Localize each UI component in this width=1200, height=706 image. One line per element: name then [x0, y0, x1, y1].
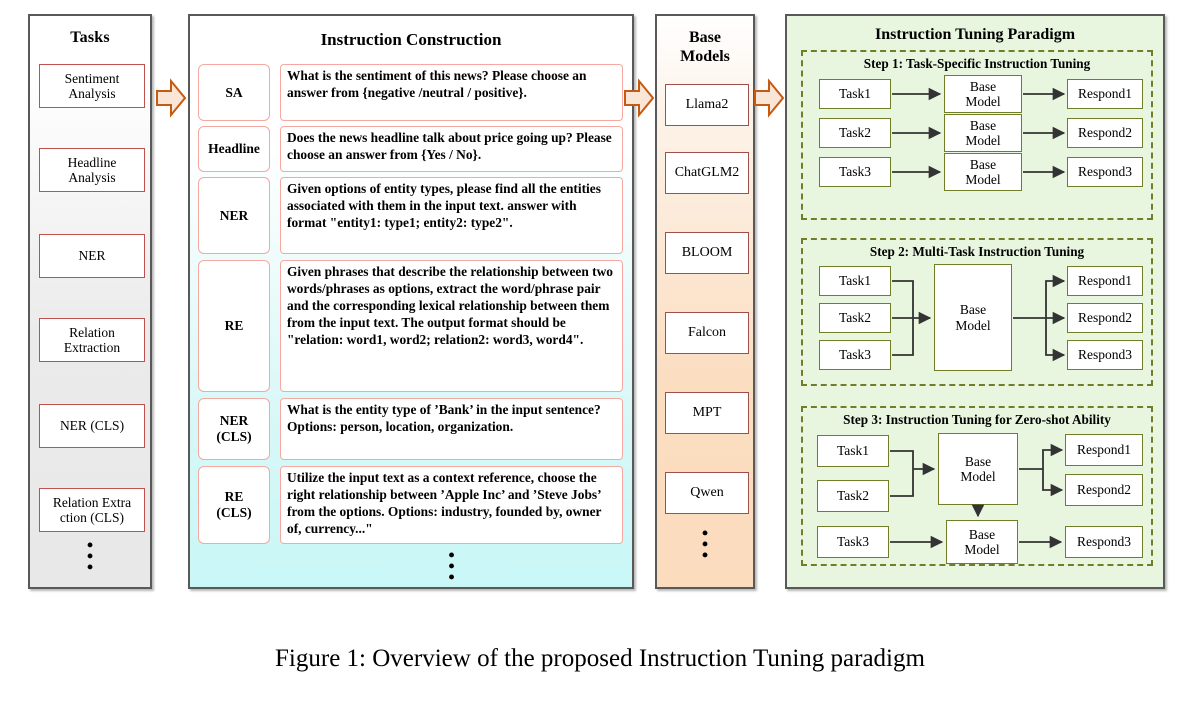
step2-connectors [803, 240, 1155, 388]
model-item[interactable]: Llama2 [665, 84, 749, 126]
instruction-text[interactable]: What is the entity type of ’Bank’ in the… [280, 398, 623, 460]
instructions-to-models-arrow [624, 78, 654, 118]
instruction-tag-label: RE [225, 318, 244, 334]
base-models-panel: Base Models Llama2 ChatGLM2 BLOOM Falcon… [655, 14, 755, 589]
tasks-to-instructions-arrow [156, 78, 186, 118]
models-panel-title: Base Models [657, 28, 753, 66]
instruction-text[interactable]: Does the news headline talk about price … [280, 126, 623, 172]
instruction-panel-title: Instruction Construction [190, 30, 632, 50]
step-3-box: Step 3: Instruction Tuning for Zero-shot… [801, 406, 1153, 566]
task-item-label: Sentiment Analysis [65, 71, 120, 102]
instruction-tag[interactable]: RE (CLS) [198, 466, 270, 544]
task-item[interactable]: NER [39, 234, 145, 278]
task-item-label: NER [79, 248, 106, 263]
model-item-label: Qwen [690, 485, 723, 501]
task-item-label: Relation Extraction [64, 325, 120, 356]
figure-caption: Figure 1: Overview of the proposed Instr… [0, 645, 1200, 673]
model-item[interactable]: ChatGLM2 [665, 152, 749, 194]
model-item-label: BLOOM [682, 245, 733, 261]
instruction-text[interactable]: Utilize the input text as a context refe… [280, 466, 623, 544]
instruction-text[interactable]: Given phrases that describe the relation… [280, 260, 623, 392]
instruction-tag[interactable]: Headline [198, 126, 270, 172]
task-item[interactable]: NER (CLS) [39, 404, 145, 448]
model-item[interactable]: BLOOM [665, 232, 749, 274]
task-item-label: Relation Extra ction (CLS) [53, 495, 131, 526]
model-item[interactable]: Qwen [665, 472, 749, 514]
model-item[interactable]: MPT [665, 392, 749, 434]
model-item-label: ChatGLM2 [675, 165, 740, 181]
models-ellipsis: • • • [657, 528, 753, 561]
step-1-box: Step 1: Task-Specific Instruction Tuning… [801, 50, 1153, 220]
paradigm-panel-title: Instruction Tuning Paradigm [787, 26, 1163, 44]
step3-connectors [803, 408, 1155, 568]
model-item-label: Llama2 [686, 97, 729, 113]
instruction-text[interactable]: Given options of entity types, please fi… [280, 177, 623, 254]
model-item-label: Falcon [688, 325, 726, 341]
task-item-label: NER (CLS) [60, 418, 124, 433]
instruction-ellipsis: • • • [280, 550, 623, 583]
task-item[interactable]: Relation Extra ction (CLS) [39, 488, 145, 532]
tasks-ellipsis: • • • [30, 540, 150, 573]
instruction-construction-panel: Instruction Construction SA What is the … [188, 14, 634, 589]
instruction-tag-label: NER (CLS) [216, 413, 251, 444]
instruction-tag-label: SA [225, 85, 242, 101]
instruction-tag[interactable]: SA [198, 64, 270, 121]
task-item[interactable]: Relation Extraction [39, 318, 145, 362]
instruction-tag[interactable]: NER (CLS) [198, 398, 270, 460]
instruction-tag-label: RE (CLS) [216, 489, 251, 520]
tasks-panel-title: Tasks [30, 29, 150, 47]
task-item[interactable]: Headline Analysis [39, 148, 145, 192]
tasks-panel: Tasks Sentiment Analysis Headline Analys… [28, 14, 152, 589]
instruction-tag-label: Headline [208, 141, 260, 157]
instruction-text[interactable]: What is the sentiment of this news? Plea… [280, 64, 623, 121]
instruction-tag[interactable]: NER [198, 177, 270, 254]
step-2-box: Step 2: Multi-Task Instruction Tuning Ta… [801, 238, 1153, 386]
models-to-paradigm-arrow [754, 78, 784, 118]
model-item-label: MPT [693, 405, 722, 421]
instruction-tag-label: NER [220, 208, 249, 224]
model-item[interactable]: Falcon [665, 312, 749, 354]
step1-connectors [803, 52, 1155, 222]
instruction-tag[interactable]: RE [198, 260, 270, 392]
instruction-tuning-paradigm-panel: Instruction Tuning Paradigm Step 1: Task… [785, 14, 1165, 589]
task-item-label: Headline Analysis [68, 155, 117, 186]
task-item[interactable]: Sentiment Analysis [39, 64, 145, 108]
